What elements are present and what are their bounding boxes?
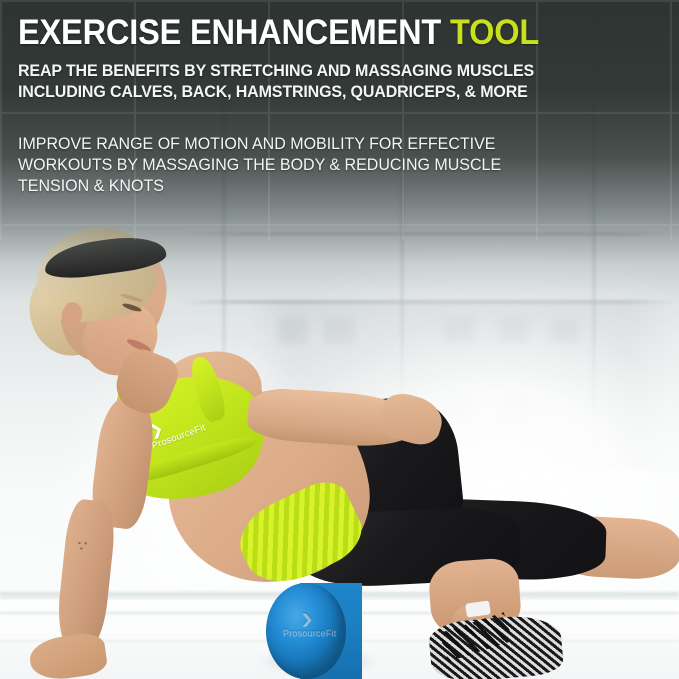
benefit-paragraph-2: IMPROVE RANGE OF MOTION AND MOBILITY FOR… [18,133,642,197]
brand-logo-roller: ❯ ProsourceFit [283,612,331,642]
benefit-1-line-1: REAP THE BENEFITS BY STRETCHING AND MASS… [18,60,642,81]
roller-logo-text: ProsourceFit [283,628,336,638]
promo-image: ❯ ProsourceFit ❯ ProsourceFit [0,0,679,679]
benefit-2-line-3: TENSION & KNOTS [18,175,642,196]
marketing-copy-block: EXERCISE ENHANCEMENT TOOL REAP THE BENEF… [18,14,665,196]
benefit-2-line-2: WORKOUTS BY MASSAGING THE BODY & REDUCIN… [18,154,642,175]
benefit-paragraph-1: REAP THE BENEFITS BY STRETCHING AND MASS… [18,60,642,102]
support-hand [27,631,108,679]
benefit-1-line-2: INCLUDING CALVES, BACK, HAMSTRINGS, QUAD… [18,81,642,102]
headline-accent-text: TOOL [450,13,539,52]
support-arm-forearm [54,498,117,652]
brand-mark-icon: ❯ [277,612,337,625]
headline-main-text: EXERCISE ENHANCEMENT [18,13,450,52]
benefit-2-line-1: IMPROVE RANGE OF MOTION AND MOBILITY FOR… [18,133,642,154]
page-title: EXERCISE ENHANCEMENT TOOL [18,14,620,51]
